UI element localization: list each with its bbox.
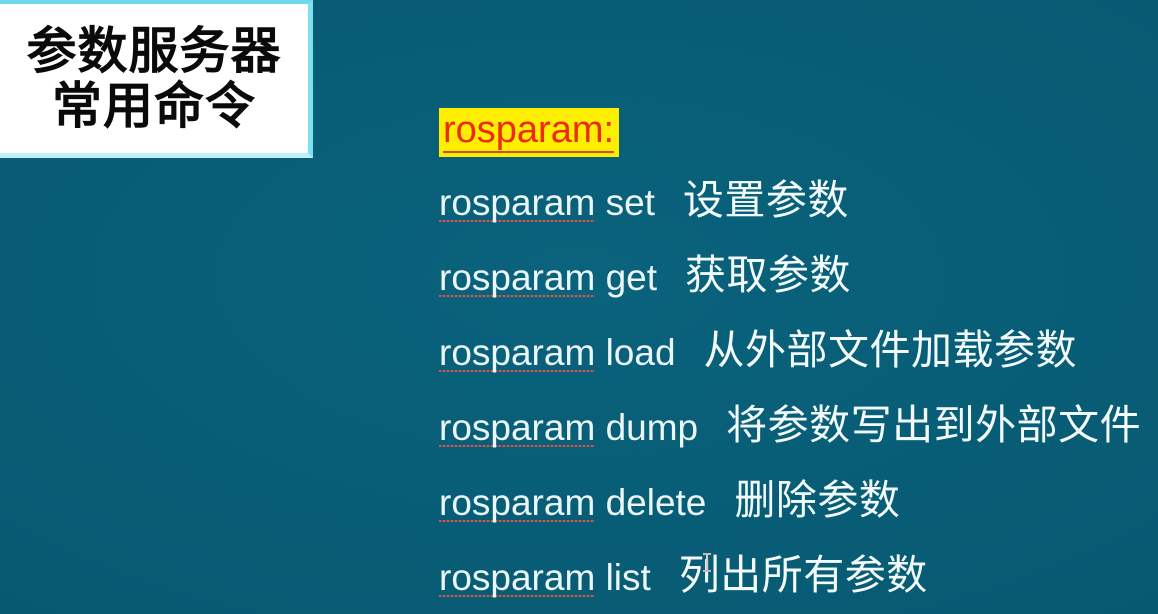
command-name: rosparam (439, 182, 595, 227)
command-description: 设置参数 (683, 180, 849, 221)
slide-canvas: 参数服务器 常用命令 rosparam: rosparam set 设置参数 r… (0, 0, 1158, 614)
command-row: rosparam get 获取参数 (439, 259, 1158, 334)
section-header-label: rosparam: (443, 111, 614, 153)
command-description: 获取参数 (685, 255, 851, 296)
command-name: rosparam (439, 557, 595, 602)
header-highlight: rosparam: (439, 108, 619, 157)
command-subcommand: delete (606, 482, 707, 523)
title-line-1: 参数服务器 (27, 26, 282, 77)
command-description: 从外部文件加载参数 (704, 330, 1078, 371)
command-description: 删除参数 (734, 480, 900, 521)
command-row: rosparam delete 删除参数 (439, 484, 1158, 559)
command-list-panel: rosparam: rosparam set 设置参数 rosparam get… (439, 108, 1158, 614)
command-text: rosparam load (439, 334, 676, 371)
command-text: rosparam list (439, 559, 651, 596)
command-subcommand: dump (606, 407, 699, 448)
command-text: rosparam delete (439, 484, 706, 521)
command-row: rosparam set 设置参数 (439, 184, 1158, 259)
command-text: rosparam get (439, 259, 657, 296)
command-name: rosparam (439, 482, 595, 527)
command-description: 将参数写出到外部文件 (726, 405, 1141, 446)
command-description: 列出所有参数 (679, 555, 928, 596)
command-row: rosparam list 列出所有参数 (439, 559, 1158, 614)
command-name: rosparam (439, 407, 595, 452)
command-subcommand: set (606, 182, 655, 223)
command-row: rosparam load 从外部文件加载参数 (439, 334, 1158, 409)
command-subcommand: get (606, 257, 657, 298)
command-text: rosparam dump (439, 409, 698, 446)
command-row: rosparam dump 将参数写出到外部文件 (439, 409, 1158, 484)
command-subcommand: list (606, 557, 651, 598)
command-subcommand: load (606, 332, 676, 373)
command-name: rosparam (439, 257, 595, 302)
command-name: rosparam (439, 332, 595, 377)
title-line-2: 常用命令 (52, 81, 256, 132)
section-header: rosparam: (439, 108, 1158, 160)
command-text: rosparam set (439, 184, 655, 221)
title-plaque: 参数服务器 常用命令 (0, 0, 313, 158)
